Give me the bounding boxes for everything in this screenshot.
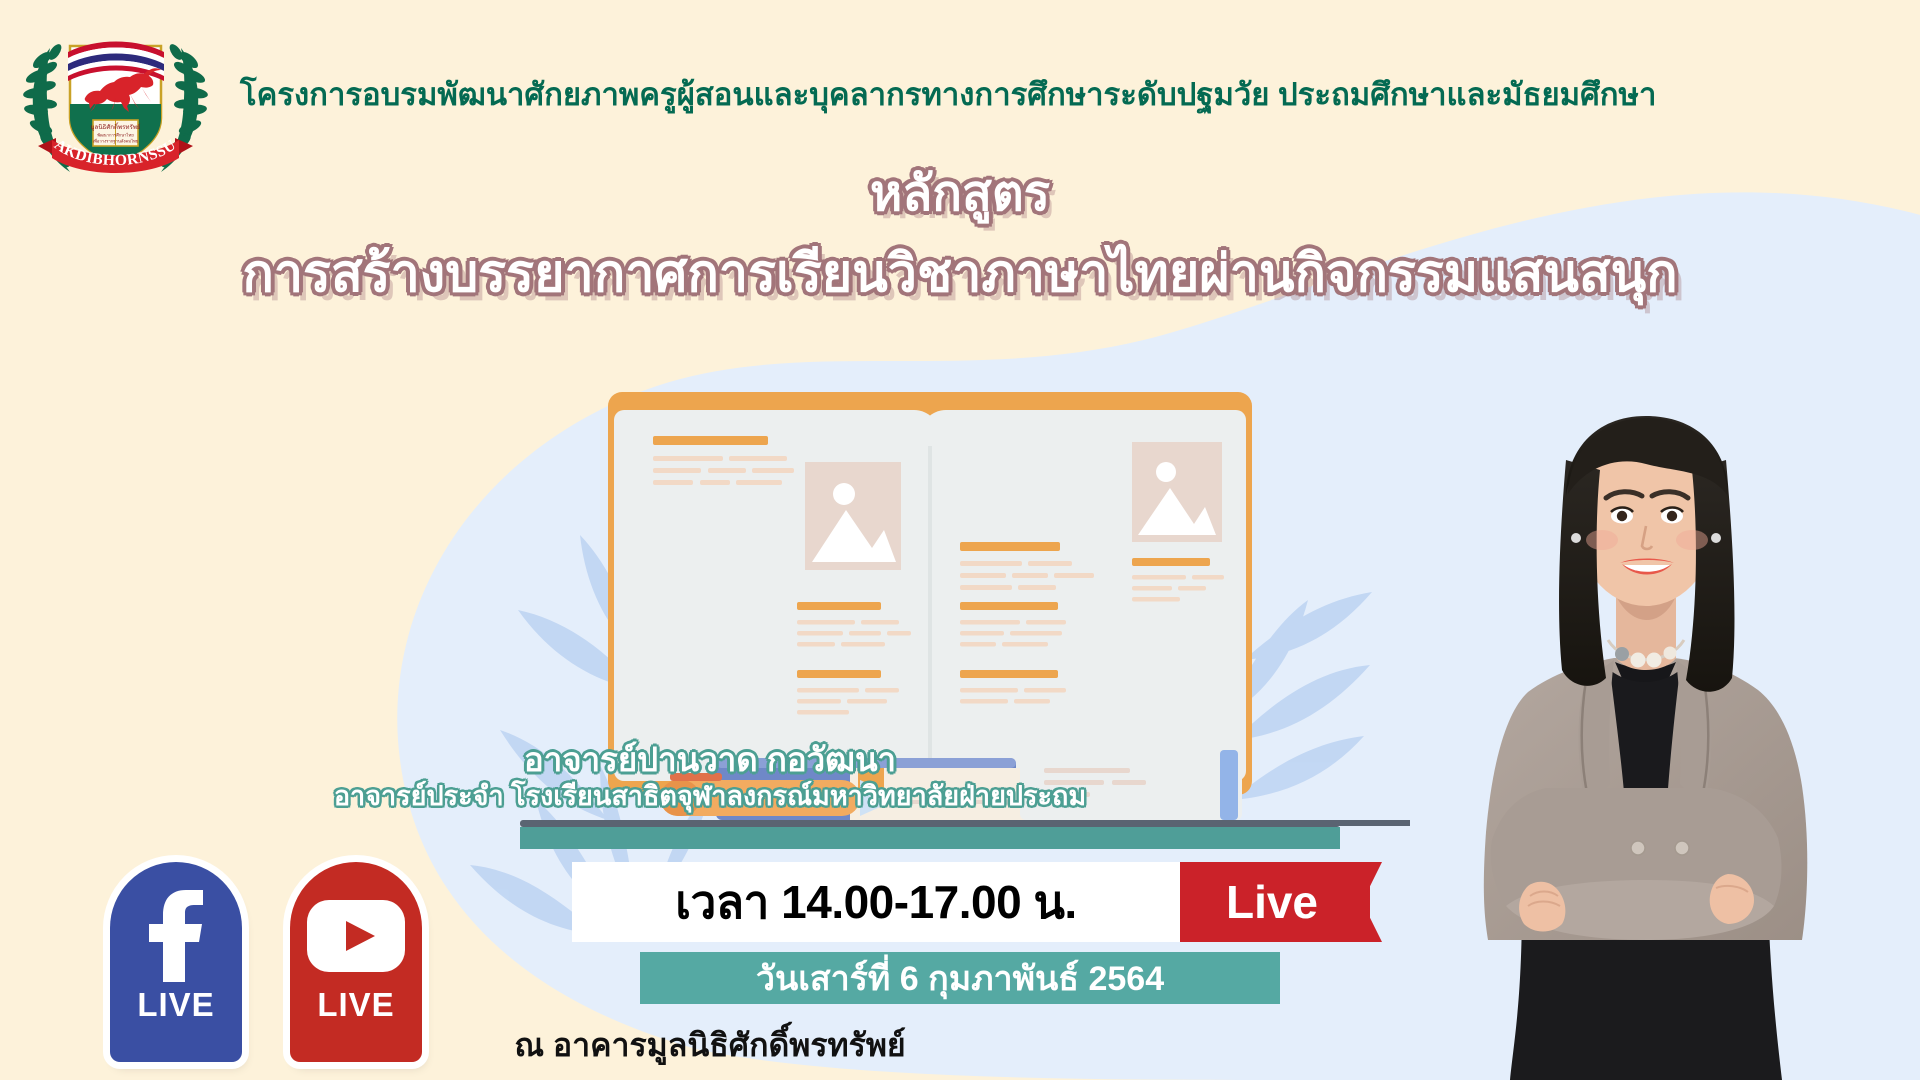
open-book-illustration [520, 330, 1340, 890]
facebook-f-icon [145, 888, 207, 984]
youtube-live-badge[interactable]: LIVE [290, 862, 422, 1062]
facebook-live-badge[interactable]: LIVE [110, 862, 242, 1062]
live-ribbon: Live [1180, 862, 1370, 942]
presenter-photo [1410, 340, 1880, 1080]
course-title: การสร้างบรรยากาศการเรียนวิชาภาษาไทยผ่านก… [0, 248, 1920, 300]
time-text: เวลา 14.00-17.00 น. [675, 866, 1076, 939]
facebook-live-label: LIVE [137, 986, 214, 1024]
poster-canvas: มูลนิธิศักดิ์พรทรัพย์ พัฒนาการศึกษาไทย เ… [0, 0, 1920, 1080]
live-ribbon-label: Live [1180, 862, 1370, 942]
logo-plaque-line3: เพื่อวางรากฐานสังคมไทย [93, 138, 139, 144]
logo-plaque-line2: พัฒนาการศึกษาไทย [97, 132, 134, 138]
date-text: วันเสาร์ที่ 6 กุมภาพันธ์ 2564 [756, 951, 1164, 1005]
time-bar: เวลา 14.00-17.00 น. [572, 862, 1180, 942]
organization-logo: มูลนิธิศักดิ์พรทรัพย์ พัฒนาการศึกษาไทย เ… [8, 8, 223, 193]
youtube-play-icon [307, 888, 405, 984]
youtube-live-label: LIVE [317, 986, 394, 1024]
header-title: โครงการอบรมพัฒนาศักยภาพครูผู้สอนและบุคลา… [240, 78, 1670, 112]
curriculum-label: หลักสูตร [0, 170, 1920, 219]
shelf-bar [520, 827, 1340, 849]
shelf-edge-line [530, 820, 1410, 826]
date-bar: วันเสาร์ที่ 6 กุมภาพันธ์ 2564 [640, 952, 1280, 1004]
logo-plaque-line1: มูลนิธิศักดิ์พรทรัพย์ [90, 122, 140, 131]
